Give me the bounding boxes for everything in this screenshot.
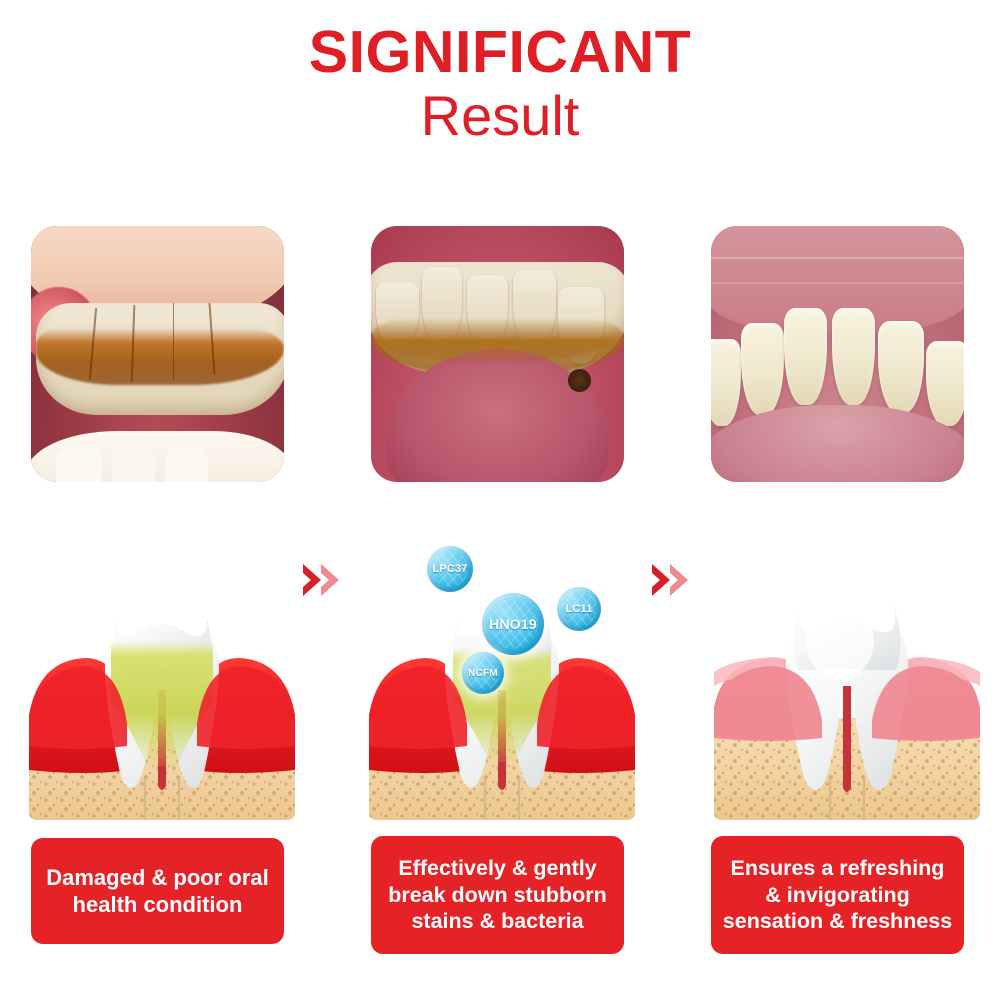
bacteria-bubble-lpc37: LPC37	[427, 546, 473, 592]
page-title: SIGNIFICANT Result	[0, 22, 1000, 146]
caption-damaged: Damaged & poor oral health condition	[31, 838, 284, 944]
caption-treating: Effectively & gently break down stubborn…	[371, 836, 624, 954]
infographic-page: SIGNIFICANT Result	[0, 0, 1000, 1000]
bacteria-bubble-ncfm: NCFM	[462, 652, 504, 694]
photo-during-tartar-inner-surface	[371, 226, 624, 482]
bacteria-bubble-label: LC11	[565, 603, 592, 615]
title-line-significant: SIGNIFICANT	[0, 22, 1000, 84]
tooth-healthy-illustration	[712, 540, 982, 825]
tooth-treating-illustration	[367, 540, 637, 825]
tooth-diagram-treating: LPC37 HNO19 LC11 NCFM	[367, 540, 637, 825]
tooth-diagram-healthy	[712, 540, 982, 825]
photo-row	[0, 226, 1000, 482]
bacteria-bubble-label: HNO19	[489, 616, 537, 632]
tooth-diagram-row: LPC37 HNO19 LC11 NCFM	[0, 540, 1000, 825]
caption-healthy: Ensures a refreshing & invigorating sens…	[711, 836, 964, 954]
bacteria-bubble-label: LPC37	[432, 563, 467, 575]
bacteria-bubble-hno19: HNO19	[482, 593, 544, 655]
title-line-result: Result	[0, 86, 1000, 146]
tooth-diagram-damaged	[27, 540, 297, 825]
photo-before-heavy-tartar	[31, 226, 284, 482]
bacteria-bubble-lc11: LC11	[557, 587, 601, 631]
tooth-damaged-illustration	[27, 540, 297, 825]
bacteria-bubble-label: NCFM	[468, 668, 498, 679]
caption-row: Damaged & poor oral health condition Eff…	[0, 836, 1000, 956]
photo-after-clean-teeth	[711, 226, 964, 482]
